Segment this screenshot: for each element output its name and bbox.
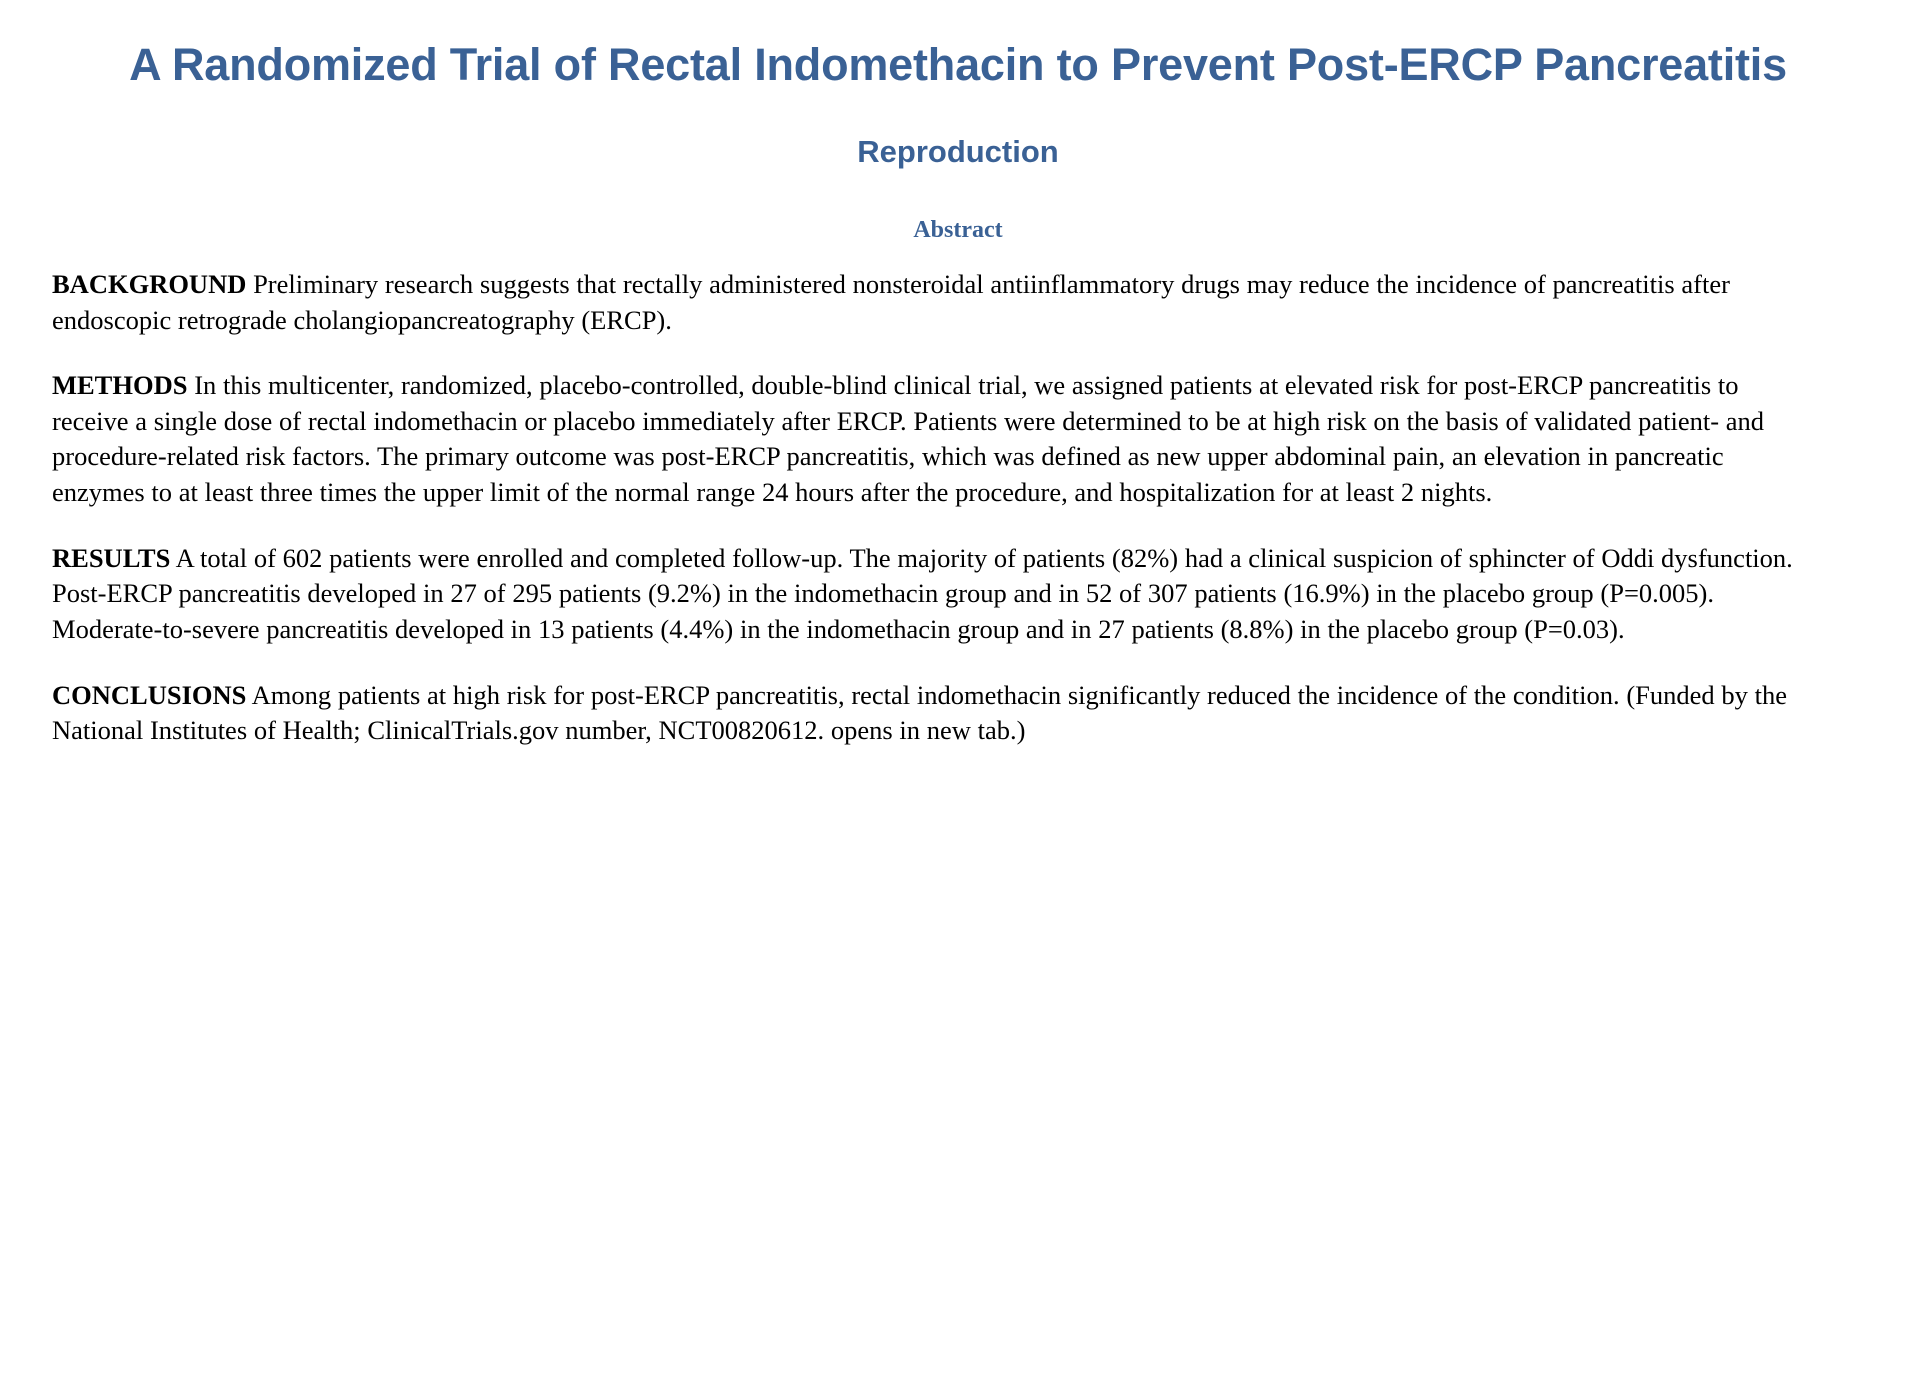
section-text-background: Preliminary research suggests that recta… <box>52 269 1730 335</box>
abstract-section-conclusions: CONCLUSIONS Among patients at high risk … <box>52 678 1794 749</box>
section-text-conclusions: Among patients at high risk for post-ERC… <box>52 680 1787 746</box>
document-page: A Randomized Trial of Rectal Indomethaci… <box>0 0 1916 1384</box>
section-text-results: A total of 602 patients were enrolled an… <box>52 543 1793 644</box>
section-label-conclusions: CONCLUSIONS <box>52 680 246 710</box>
abstract-body: BACKGROUND Preliminary research suggests… <box>0 245 1916 749</box>
section-text-methods: In this multicenter, randomized, placebo… <box>52 370 1764 507</box>
abstract-section-methods: METHODS In this multicenter, randomized,… <box>52 368 1794 511</box>
section-label-background: BACKGROUND <box>52 269 246 299</box>
page-title: A Randomized Trial of Rectal Indomethaci… <box>0 0 1916 93</box>
document-subtitle: Reproduction <box>0 93 1916 170</box>
section-label-methods: METHODS <box>52 370 187 400</box>
abstract-heading: Abstract <box>0 170 1916 245</box>
abstract-section-results: RESULTS A total of 602 patients were enr… <box>52 541 1794 648</box>
section-label-results: RESULTS <box>52 543 170 573</box>
abstract-section-background: BACKGROUND Preliminary research suggests… <box>52 267 1794 338</box>
